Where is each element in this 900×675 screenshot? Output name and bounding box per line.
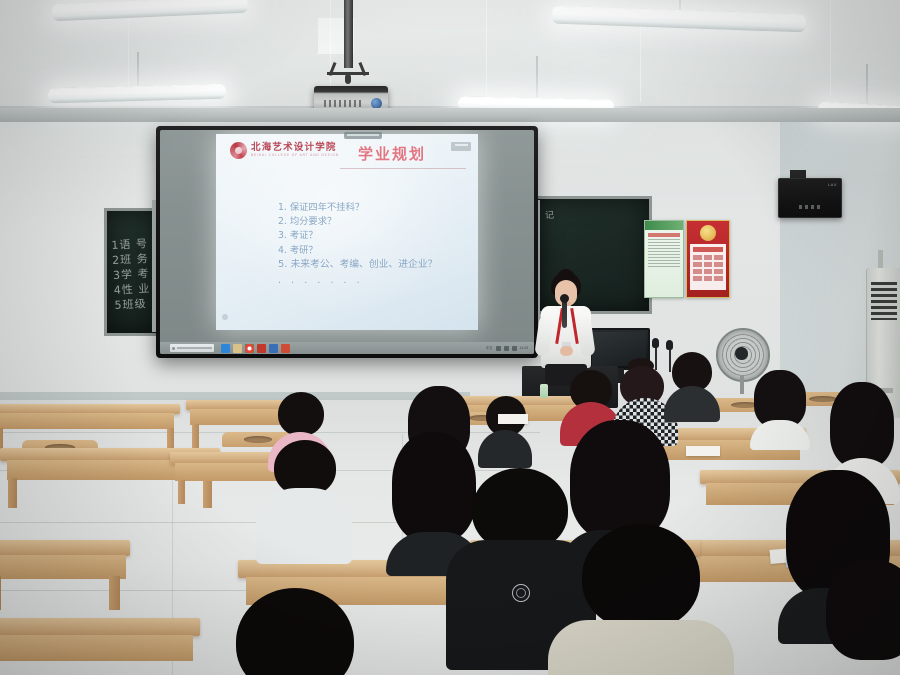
slide-ellipsis: · · · · · · · <box>278 277 506 291</box>
mic-head-icon <box>666 340 673 350</box>
core-values-poster <box>686 220 730 298</box>
slide-bullet-list: 1. 保证四年不挂科？ 2. 均分要求？ 3. 考证？ 4. 考研？ 5. 未来… <box>238 201 506 291</box>
skirting-board <box>0 392 470 400</box>
poster-line <box>648 248 680 249</box>
speaker-ports <box>799 205 823 209</box>
wooden-desk <box>0 540 130 610</box>
light-tube <box>552 6 806 33</box>
poster-header <box>645 221 683 230</box>
ime-indicator[interactable]: 中文 <box>486 346 493 350</box>
light-rod <box>536 56 538 100</box>
taskbar-tray[interactable]: 中文 14:25 <box>486 346 528 351</box>
list-item: 4. 考研？ <box>278 244 506 258</box>
water-bottle <box>540 384 548 398</box>
pdf-icon[interactable] <box>281 344 290 353</box>
desk-apron <box>0 635 193 661</box>
slide-watermark-dot <box>222 314 228 320</box>
network-icon[interactable] <box>496 346 501 351</box>
taskbar-clock[interactable]: 14:25 <box>520 346 529 350</box>
smartboard-panel: 北海艺术设计学院 BEIHAI COLLEGE OF ART AND DESIG… <box>160 130 534 354</box>
poster-line <box>648 257 680 258</box>
student <box>548 524 734 675</box>
values-title-bar <box>693 247 723 252</box>
projector-mount <box>327 62 369 88</box>
paper-sheet <box>686 446 720 456</box>
search-placeholder-bar <box>177 347 212 349</box>
student <box>750 370 810 444</box>
list-item: 5. 未来考公、考编、创业、进企业？ <box>278 258 506 272</box>
poster-line <box>648 242 680 243</box>
medal-icon <box>700 225 716 241</box>
wooden-desk <box>0 618 200 675</box>
student-shoulders <box>256 488 352 564</box>
student-shoulders <box>548 620 734 675</box>
fan-hub <box>735 347 748 360</box>
desk-leg <box>109 576 120 610</box>
slide-toolbar-chip[interactable] <box>344 132 382 139</box>
student-hair-long <box>830 382 894 468</box>
speaker-brand-label: LAX <box>828 182 837 187</box>
desk-apron <box>0 413 174 429</box>
search-icon <box>172 347 175 350</box>
student-head <box>236 588 354 675</box>
wps-icon[interactable] <box>257 344 266 353</box>
desk-top <box>0 540 130 556</box>
student <box>826 560 900 675</box>
ceiling-light-1 <box>52 0 248 42</box>
desk-apron <box>0 555 126 579</box>
light-tube <box>48 84 226 104</box>
explorer-icon[interactable] <box>221 344 230 353</box>
student-hair-long <box>826 560 900 660</box>
smartboard[interactable]: 北海艺术设计学院 BEIHAI COLLEGE OF ART AND DESIG… <box>156 126 538 358</box>
chalk-writing: 1语 号2班 务3学 考4性 业5班级 <box>111 236 151 313</box>
list-item: 2. 均分要求？ <box>278 215 506 229</box>
list-item: 1. 保证四年不挂科？ <box>278 201 506 215</box>
student-head <box>278 392 324 436</box>
desk-leg <box>178 480 185 504</box>
windows-taskbar[interactable]: 中文 14:25 <box>160 342 534 354</box>
light-rod <box>866 64 868 106</box>
poster-title-bar <box>648 233 680 237</box>
college-name-cn: 北海艺术设计学院 <box>251 143 339 153</box>
volume-icon[interactable] <box>504 346 509 351</box>
chrome-icon[interactable] <box>245 344 254 353</box>
ac-pipe <box>878 250 883 270</box>
poster-line <box>648 239 680 240</box>
slide-title: 学业规划 <box>358 143 426 164</box>
slide-title-rule <box>340 168 466 169</box>
college-name-en: BEIHAI COLLEGE OF ART AND DESIGN <box>251 153 339 158</box>
board-rail <box>0 108 900 122</box>
student-shoulders <box>478 430 532 468</box>
projector-pole <box>344 0 353 68</box>
presentation-slide: 北海艺术设计学院 BEIHAI COLLEGE OF ART AND DESIG… <box>216 134 478 330</box>
slide-annotation-button[interactable] <box>451 142 471 151</box>
student <box>206 588 388 675</box>
student-shoulders <box>664 386 720 422</box>
desk-top <box>0 618 200 636</box>
values-panel <box>690 244 726 290</box>
tshirt-logo-icon <box>512 584 530 602</box>
logo-swirl-icon <box>230 142 247 159</box>
wall-seam-3 <box>486 0 487 100</box>
student-head <box>582 524 700 630</box>
battery-icon[interactable] <box>512 346 517 351</box>
light-tube <box>52 0 249 21</box>
classroom-scene: 1语 号2班 务3学 考4性 业5班级 记 北海艺术设计学院 BEIHAI CO… <box>0 0 900 675</box>
desk-leg <box>192 424 199 448</box>
paper-sheet <box>498 414 528 424</box>
poster-line <box>648 245 680 246</box>
college-logo: 北海艺术设计学院 BEIHAI COLLEGE OF ART AND DESIG… <box>230 142 339 159</box>
student <box>478 396 532 466</box>
handheld-mic-head-icon <box>560 294 569 303</box>
taskbar-app-icons[interactable] <box>221 344 290 353</box>
green-notice-poster <box>644 220 684 298</box>
list-item: 3. 考证？ <box>278 229 506 243</box>
ceiling-light-3 <box>552 10 806 44</box>
wall-seam-4 <box>830 0 831 96</box>
folder-icon[interactable] <box>233 344 242 353</box>
chalk-writing-right: 记 <box>545 209 556 225</box>
mic-head-icon <box>652 338 659 348</box>
student <box>256 440 352 560</box>
search-input[interactable] <box>170 344 214 352</box>
video-icon[interactable] <box>269 344 278 353</box>
values-grid <box>693 255 723 281</box>
poster-line <box>648 251 680 252</box>
poster-line <box>648 263 680 264</box>
ac-grille-icon <box>871 282 897 320</box>
projector-vents <box>324 100 364 107</box>
fan-stem <box>740 376 744 394</box>
desk-leg <box>8 478 17 508</box>
poster-line <box>648 254 680 255</box>
student-shoulders <box>750 420 810 450</box>
presenter-hand <box>560 346 573 356</box>
presenter <box>531 272 601 382</box>
desk-leg <box>0 576 1 610</box>
student <box>664 352 720 418</box>
light-rod <box>137 52 139 88</box>
poster-line <box>648 260 680 261</box>
poster-line <box>648 266 680 267</box>
wall-speaker: LAX <box>778 178 842 218</box>
